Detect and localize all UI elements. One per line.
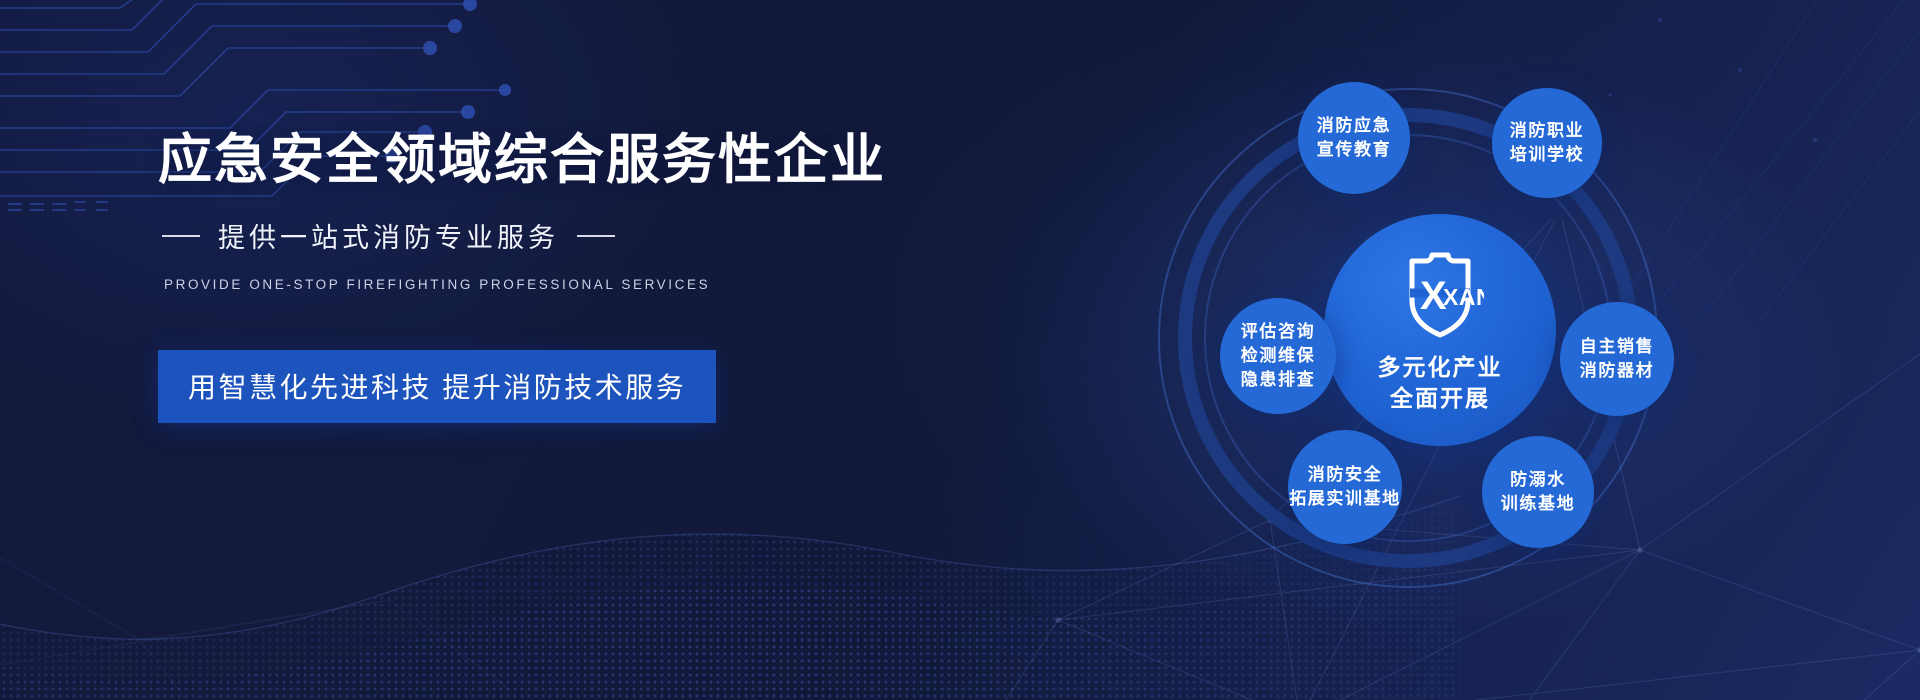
english-subtitle: PROVIDE ONE-STOP FIREFIGHTING PROFESSION… (164, 277, 918, 292)
node-label-line1: 消防安全 (1308, 463, 1382, 487)
service-node-fire-emergency-publicity[interactable]: 消防应急 宣传教育 (1298, 82, 1410, 194)
services-orbit-diagram: X XAN 多元化产业 全面开展 消防应急 宣传教育 消防职业 培训学校 自主销… (1120, 70, 1760, 610)
service-node-assessment-inspection[interactable]: 评估咨询 检测维保 隐患排查 (1220, 298, 1336, 414)
hero-text-block: 应急安全领域综合服务性企业 提供一站式消防专业服务 PROVIDE ONE-ST… (158, 130, 918, 423)
node-label-line1: 消防职业 (1510, 119, 1584, 143)
node-label-line2: 宣传教育 (1317, 138, 1391, 162)
svg-text:XAN: XAN (1443, 284, 1484, 310)
node-label-line1: 消防应急 (1317, 114, 1391, 138)
service-node-equipment-sales[interactable]: 自主销售 消防器材 (1560, 302, 1674, 416)
cta-button[interactable]: 用智慧化先进科技 提升消防技术服务 (158, 350, 716, 423)
subtitle: 提供一站式消防专业服务 (218, 216, 559, 255)
subtitle-row: 提供一站式消防专业服务 (162, 216, 918, 255)
service-node-safety-training-base[interactable]: 消防安全 拓展实训基地 (1288, 430, 1402, 544)
node-label-line1: 防溺水 (1510, 468, 1566, 492)
service-node-vocational-training-school[interactable]: 消防职业 培训学校 (1492, 88, 1602, 198)
center-node[interactable]: X XAN 多元化产业 全面开展 (1324, 214, 1556, 446)
node-label-line2: 消防器材 (1580, 359, 1654, 383)
node-label-line2: 培训学校 (1510, 143, 1584, 167)
xan-shield-logo-icon: X XAN (1396, 247, 1484, 344)
node-label-line1: 评估咨询 (1241, 320, 1315, 344)
center-label-line2: 全面开展 (1378, 383, 1503, 413)
center-node-label: 多元化产业 全面开展 (1378, 352, 1503, 413)
service-node-anti-drowning-training-base[interactable]: 防溺水 训练基地 (1482, 436, 1594, 548)
node-label-line1: 自主销售 (1580, 335, 1654, 359)
dash-left-decoration (162, 235, 200, 237)
dash-right-decoration (577, 235, 615, 237)
node-label-line2: 拓展实训基地 (1289, 487, 1401, 511)
node-label-line2: 训练基地 (1501, 492, 1575, 516)
network-lines-left-decoration (0, 430, 510, 700)
hero-banner: 应急安全领域综合服务性企业 提供一站式消防专业服务 PROVIDE ONE-ST… (0, 0, 1920, 700)
page-title: 应急安全领域综合服务性企业 (158, 130, 918, 190)
node-label-line2: 检测维保 (1241, 344, 1315, 368)
node-label-line3: 隐患排查 (1241, 368, 1315, 392)
center-label-line1: 多元化产业 (1378, 352, 1503, 382)
